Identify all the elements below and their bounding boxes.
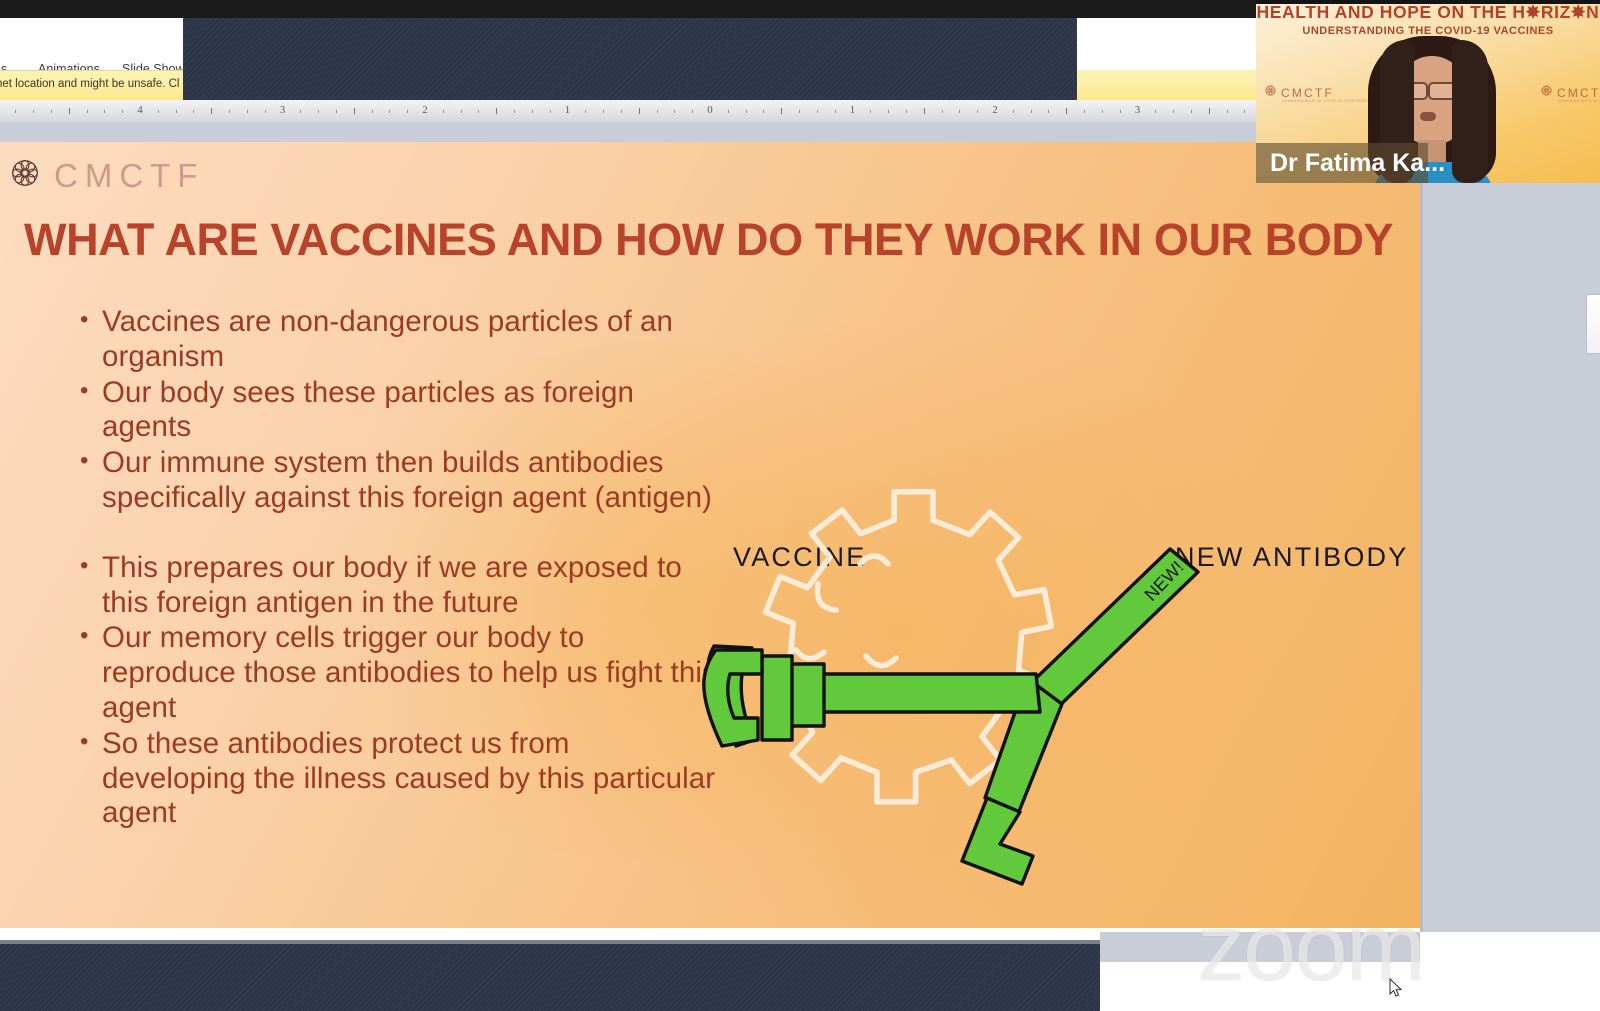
rosette-logo-icon [1264,84,1277,102]
ruler-tick [318,110,319,113]
status-bar-area-right [1420,932,1600,1011]
slide-logo: CMCTF [8,156,204,195]
video-logo-subtext-right: CANADIAN MUSLIM COVID-19 TASK FORCE [1558,99,1600,103]
ruler-tick [1066,108,1067,114]
ruler-tick [122,110,123,113]
ruler-tick [1120,110,1121,113]
ruler-tick [461,110,462,113]
video-logo-right: CMCTF CANADIAN MUSLIM COVID-19 TASK FORC… [1540,84,1600,102]
ruler-tick [389,110,390,113]
ruler-tick [51,110,52,113]
ruler-label: 3 [1135,104,1141,116]
ruler-tick [1013,110,1014,113]
bullet-list-group-1: Vaccines are non-dangerous particles of … [70,305,720,516]
vertical-scrollbar-thumb[interactable] [1586,294,1600,354]
ruler-tick [229,110,230,113]
ruler-tick [674,110,675,113]
ruler-tick [550,110,551,113]
security-warning-text: net location and might be unsafe. Cl [0,78,179,90]
ruler-tick [354,108,355,114]
presentation-backdrop-top [183,18,1077,100]
ruler-tick [300,110,301,113]
ruler-tick [211,108,212,114]
participant-video-tile[interactable]: HEALTH AND HOPE ON THE H✸RIZ✸N UNDERSTAN… [1256,0,1600,183]
ruler-tick [977,110,978,113]
video-logo-text-left: CMCTF [1281,86,1334,100]
ruler-tick [514,110,515,113]
ruler-tick [1155,110,1156,113]
ruler-tick [247,110,248,113]
ruler-tick [1227,110,1228,113]
bullet-item: Our memory cells trigger our body to rep… [70,621,720,725]
powerpoint-ribbon: ns Animations Slide Show [0,18,183,70]
participant-name-badge: Dr Fatima Ka... [1256,143,1428,183]
bullet-item: This prepares our body if we are exposed… [70,551,720,621]
ruler-tick [443,110,444,113]
slide-title: WHAT ARE VACCINES AND HOW DO THEY WORK I… [24,214,1414,266]
ruler-tick [870,110,871,113]
ruler-tick [763,110,764,113]
video-tile-top-strip [1256,0,1600,4]
ruler-tick [176,110,177,113]
ruler-tick [585,110,586,113]
video-logo-subtext-left: CANADIAN MUSLIM COVID-19 TASK FORCE [1282,99,1371,103]
mouse-cursor [1389,978,1403,998]
app-background-right [1420,142,1600,932]
avatar-mouth [1420,112,1436,121]
ruler-label: 1 [565,104,571,116]
ruler-tick [1084,110,1085,113]
ruler-tick [1209,108,1210,114]
bullet-item: Our immune system then builds antibodies… [70,446,720,516]
ruler-tick [1048,110,1049,113]
ruler-tick [924,108,925,114]
ruler-tick [888,110,889,113]
ruler-tick [69,108,70,114]
ruler-label: 1 [850,104,856,116]
security-warning-bar[interactable]: net location and might be unsafe. Cl [0,70,183,101]
slide-illustration: VACCINE NEW ANTIBODY [700,374,1420,928]
ruler-label: 4 [137,104,143,116]
ruler-tick [817,110,818,113]
ruler-tick [1191,110,1192,113]
ruler-tick [1244,110,1245,113]
video-banner: HEALTH AND HOPE ON THE H✸RIZ✸N UNDERSTAN… [1256,2,1600,37]
ruler-tick [478,110,479,113]
ruler-label: 3 [280,104,286,116]
avatar-hair-right [1452,40,1488,183]
bullet-item: Our body sees these particles as foreign… [70,376,720,446]
ruler-tick [603,110,604,113]
ruler-tick [372,110,373,113]
presentation-slide[interactable]: CMCTF WHAT ARE VACCINES AND HOW DO THEY … [0,142,1420,928]
ruler-label: 2 [992,104,998,116]
bullet-item: Vaccines are non-dangerous particles of … [70,305,720,375]
ruler-tick [1173,110,1174,113]
ruler-tick [336,110,337,113]
ruler-tick [728,110,729,113]
ruler-tick [959,110,960,113]
ruler-tick [746,110,747,113]
ruler-tick [496,108,497,114]
bullet-group-spacer [70,517,720,551]
ruler-tick [407,110,408,113]
ruler-tick [265,110,266,113]
video-banner-title: HEALTH AND HOPE ON THE H✸RIZ✸N [1256,2,1600,23]
ruler-tick [781,108,782,114]
ruler-tick [87,110,88,113]
ruler-tick [692,110,693,113]
ruler-tick [158,110,159,113]
ruler-tick [15,110,16,113]
ruler-tick [1102,110,1103,113]
screen: ns Animations Slide Show net location an… [0,0,1600,1011]
ruler-label: 0 [707,104,713,116]
bullet-item: So these antibodies protect us from deve… [70,727,720,831]
ruler-tick [835,110,836,113]
ruler-label: 2 [422,104,428,116]
ruler-tick [532,110,533,113]
rosette-logo-icon [1540,84,1553,102]
ruler-tick [639,108,640,114]
participant-name-text: Dr Fatima Ka... [1270,149,1445,178]
slide-bullet-content: Vaccines are non-dangerous particles of … [70,305,720,832]
slide-edge-separator [1420,142,1423,932]
rosette-logo-icon [8,156,42,195]
slide-logo-text: CMCTF [54,157,204,195]
ruler-tick [942,110,943,113]
video-logo-text-right: CMCTF [1557,86,1600,100]
ruler-tick [621,110,622,113]
ruler-tick [104,110,105,113]
ruler-tick [1031,110,1032,113]
ruler-tick [799,110,800,113]
ruler-tick [193,110,194,113]
bullet-list-group-2: This prepares our body if we are exposed… [70,551,720,831]
presentation-backdrop-bottom [0,944,1100,1011]
ruler-tick [906,110,907,113]
antibody-icon [704,549,1198,884]
video-logo-left: CMCTF CANADIAN MUSLIM COVID-19 TASK FORC… [1264,84,1334,102]
ruler-tick [33,110,34,113]
ruler-tick [657,110,658,113]
